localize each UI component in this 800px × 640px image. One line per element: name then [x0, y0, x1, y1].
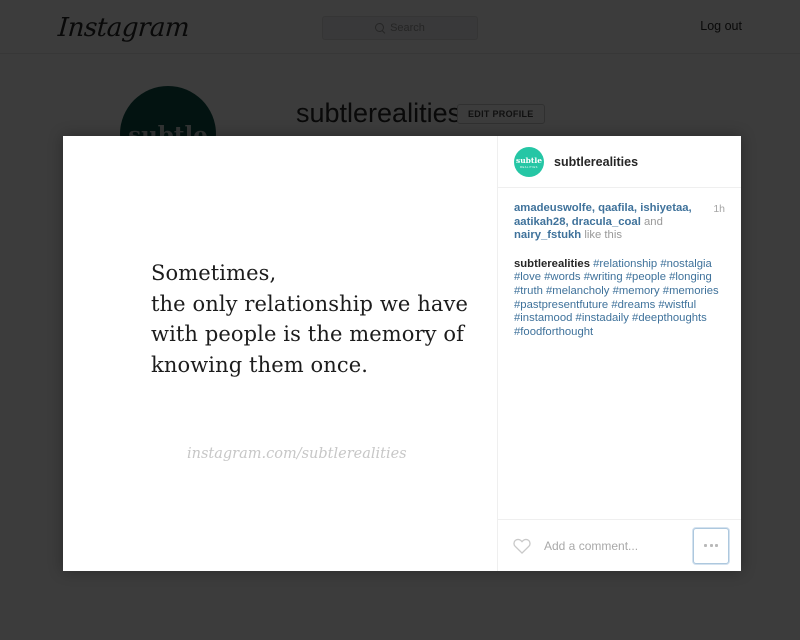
post-modal: Sometimes, the only relationship we have… — [63, 136, 741, 571]
quote-line: with people is the memory of — [151, 319, 473, 350]
post-caption: subtlerealities #relationship #nostalgia… — [514, 258, 725, 340]
more-dot — [704, 544, 707, 547]
likes-row: amadeuswolfe, qaafila, ishiyetaa, aatika… — [514, 202, 725, 243]
heart-icon[interactable] — [512, 536, 532, 556]
more-dot — [715, 544, 718, 547]
likes-usernames[interactable]: amadeuswolfe, qaafila, ishiyetaa, aatika… — [514, 202, 692, 228]
post-author-header: subtle REALITIES subtlerealities — [498, 136, 741, 188]
avatar[interactable]: subtle REALITIES — [514, 147, 544, 177]
more-options-button[interactable] — [693, 528, 729, 564]
likes-last-username[interactable]: nairy_fstukh — [514, 229, 581, 241]
quote-line: Sometimes, — [151, 258, 473, 289]
post-quote-text: Sometimes, the only relationship we have… — [151, 258, 473, 380]
quote-line: the only relationship we have — [151, 289, 473, 320]
likes-text: amadeuswolfe, qaafila, ishiyetaa, aatika… — [514, 202, 699, 243]
post-activity-area: amadeuswolfe, qaafila, ishiyetaa, aatika… — [498, 188, 741, 519]
post-image[interactable]: Sometimes, the only relationship we have… — [63, 136, 497, 571]
post-action-bar: Add a comment... — [498, 519, 741, 571]
post-watermark: instagram.com/subtlerealities — [187, 446, 407, 462]
more-dot — [710, 544, 713, 547]
likes-suffix: like this — [584, 229, 622, 241]
post-author-username[interactable]: subtlerealities — [554, 155, 638, 169]
post-timestamp: 1h — [713, 203, 725, 215]
post-details-sidebar: subtle REALITIES subtlerealities amadeus… — [497, 136, 741, 571]
add-comment-input[interactable]: Add a comment... — [544, 539, 681, 553]
caption-author[interactable]: subtlerealities — [514, 258, 590, 270]
likes-conjunction: and — [644, 216, 663, 228]
avatar-main-text: subtle — [516, 157, 542, 165]
avatar-sub-text: REALITIES — [520, 166, 538, 169]
quote-line: knowing them once. — [151, 350, 473, 381]
